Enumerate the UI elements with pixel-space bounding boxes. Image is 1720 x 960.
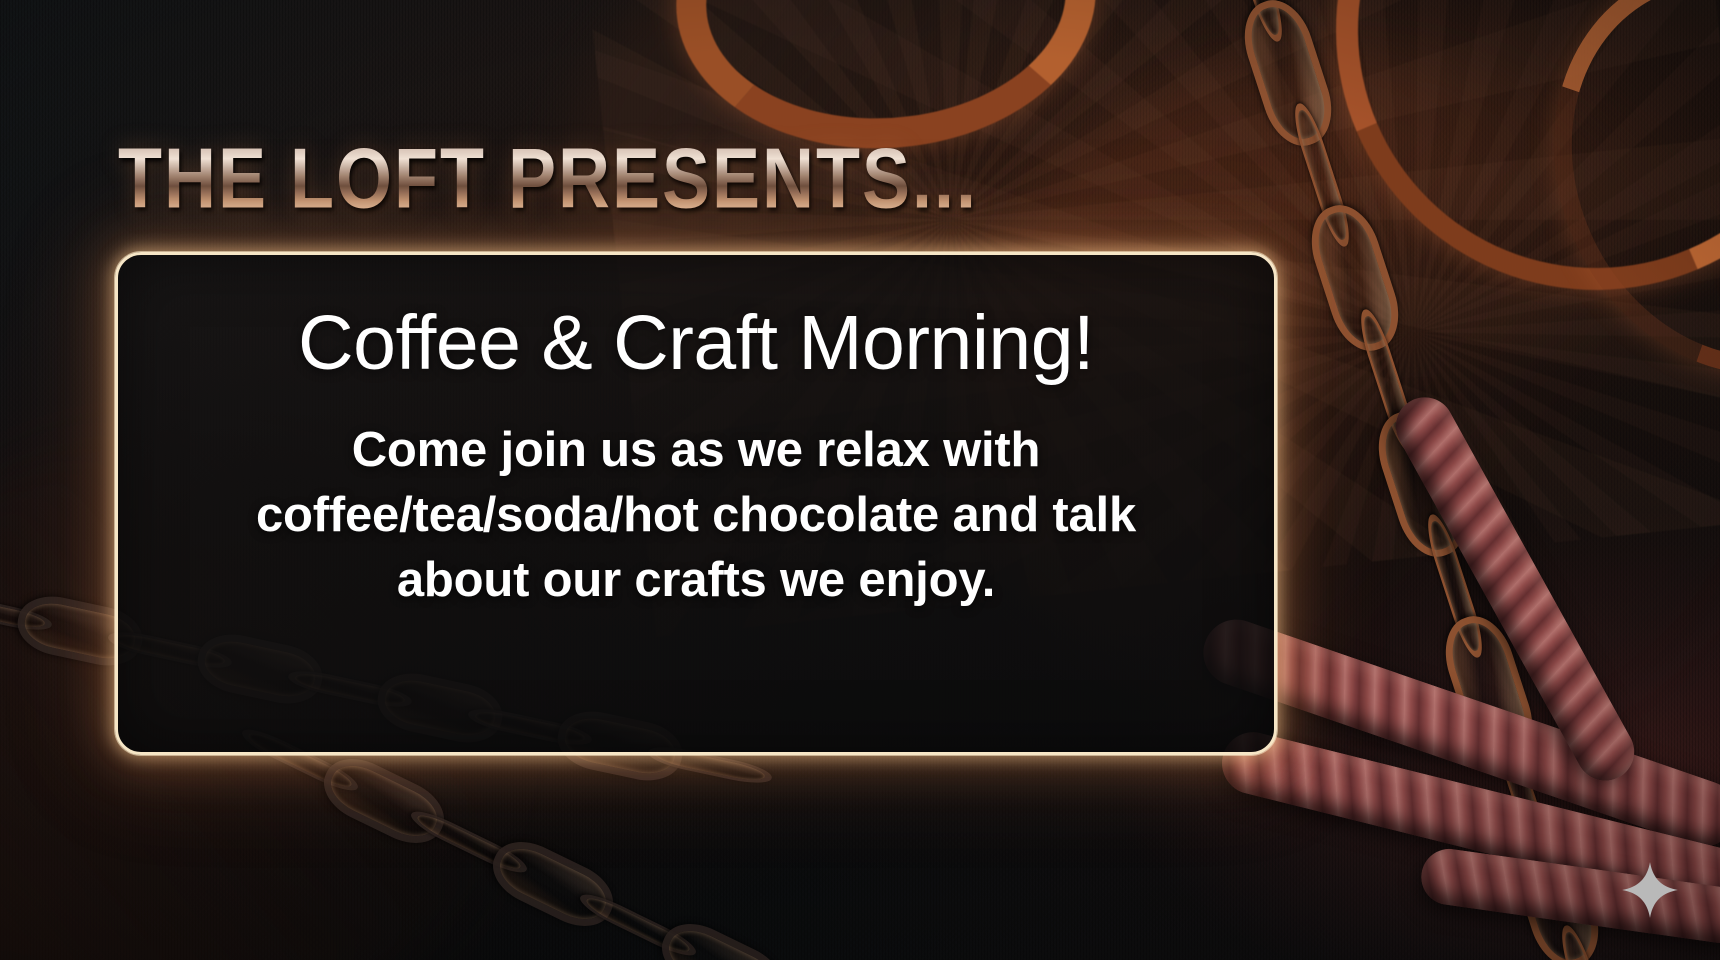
poster-canvas: THE LOFT PRESENTS... Coffee & Craft Morn… — [0, 0, 1720, 960]
body-line-3: about our crafts we enjoy. — [256, 548, 1136, 613]
body-line-2: coffee/tea/soda/hot chocolate and talk — [256, 483, 1136, 548]
page-title: Coffee & Craft Morning! — [298, 303, 1094, 384]
glow-card: Coffee & Craft Morning! Come join us as … — [115, 252, 1277, 755]
card-content: Coffee & Craft Morning! Come join us as … — [118, 255, 1274, 752]
eyebrow-title-wrap: THE LOFT PRESENTS... — [118, 136, 1018, 222]
eyebrow-title: THE LOFT PRESENTS... — [118, 128, 1018, 229]
sparkle-icon — [1621, 861, 1679, 919]
body-line-1: Come join us as we relax with — [256, 418, 1136, 483]
card-body-text: Come join us as we relax with coffee/tea… — [256, 418, 1136, 613]
